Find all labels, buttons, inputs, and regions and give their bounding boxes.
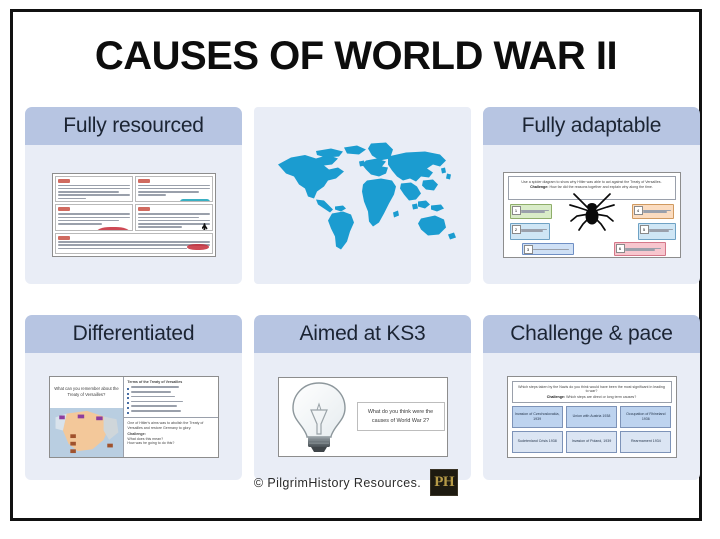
- challenge-label: Challenge:: [547, 395, 565, 399]
- panel-body-world-map: [254, 107, 471, 284]
- spider-box-2: 2: [510, 223, 550, 240]
- spider-box-3: 3: [522, 243, 574, 255]
- spider-diagram-thumbnail: Use a spider diagram to show why Hitler …: [503, 172, 681, 258]
- panel-header-differentiated: Differentiated: [25, 315, 242, 353]
- panel-body-fully-resourced: [25, 145, 242, 284]
- spider-icon: [569, 190, 615, 232]
- ks3-question: What do you think were the causes of Wor…: [357, 402, 445, 431]
- spider-challenge-label: Challenge:: [530, 185, 548, 189]
- spider-instruction: Use a spider diagram to show why Hitler …: [514, 180, 670, 185]
- challenge-cell: Union with Austria 1938: [566, 406, 617, 428]
- challenge-cell: Rearmament 1934: [620, 431, 671, 453]
- worksheet-block: [55, 204, 133, 231]
- poster-frame: CAUSES OF WORLD WAR II Fully resourced: [10, 9, 702, 521]
- world-map-icon: [268, 137, 458, 255]
- lightbulb-thumbnail: What do you think were the causes of Wor…: [278, 377, 448, 457]
- panel-fully-resourced[interactable]: Fully resourced: [25, 107, 242, 284]
- worksheet-footer-block: [55, 233, 213, 253]
- spider-box-number: 4: [634, 206, 643, 215]
- germany-map-icon: [50, 408, 124, 457]
- panel-header-fully-adaptable: Fully adaptable: [483, 107, 700, 145]
- challenge-instruction: Which steps taken by the Nazis do you th…: [517, 385, 667, 395]
- panel-body-aimed-at-ks3: What do you think were the causes of Wor…: [254, 353, 471, 480]
- spider-box-number: 6: [616, 244, 625, 253]
- treaty-terms-title: Terms of the Treaty of Versailles: [127, 380, 214, 385]
- worksheet-block: [135, 204, 213, 231]
- worksheet-block: [135, 176, 213, 203]
- challenge-grid-thumbnail: Which steps taken by the Nazis do you th…: [507, 376, 677, 458]
- panel-body-differentiated: What can you remember about the Treaty o…: [25, 353, 242, 480]
- panel-header-challenge-and-pace: Challenge & pace: [483, 315, 700, 353]
- panel-differentiated[interactable]: Differentiated What can you remember abo…: [25, 315, 242, 480]
- spider-box-number: 5: [640, 225, 649, 234]
- panel-aimed-at-ks3[interactable]: Aimed at KS3: [254, 315, 471, 480]
- panel-world-map[interactable]: [254, 107, 471, 284]
- spider-box-4: 4: [632, 204, 674, 219]
- spider-challenge-text: How far did the reasons together and exp…: [549, 185, 652, 189]
- footer: © PilgrimHistory Resources. PH: [13, 469, 699, 496]
- differentiated-thumbnail: What can you remember about the Treaty o…: [49, 376, 219, 458]
- differentiated-question: What can you remember about the Treaty o…: [50, 377, 124, 408]
- challenge-cell: Invasion of Poland, 1939: [566, 431, 617, 453]
- differentiated-task-block: One of Hitler's aims was to abolish the …: [124, 418, 217, 456]
- panel-body-challenge-and-pace: Which steps taken by the Nazis do you th…: [483, 353, 700, 480]
- treaty-terms-block: Terms of the Treaty of Versailles: [124, 377, 217, 419]
- challenge-instruction-box: Which steps taken by the Nazis do you th…: [512, 381, 672, 403]
- challenge-text: Which steps are direct or long term caus…: [566, 395, 636, 399]
- panel-fully-adaptable[interactable]: Fully adaptable Use a spider diagram to …: [483, 107, 700, 284]
- pilgrim-history-logo: PH: [430, 469, 458, 496]
- panel-header-fully-resourced: Fully resourced: [25, 107, 242, 145]
- spider-box-1: 1: [510, 204, 552, 219]
- lightbulb-icon: [287, 380, 351, 454]
- worksheet-thumbnail: [52, 173, 216, 257]
- spider-box-number: 3: [524, 245, 533, 254]
- panel-header-aimed-at-ks3: Aimed at KS3: [254, 315, 471, 353]
- panel-challenge-and-pace[interactable]: Challenge & pace Which steps taken by th…: [483, 315, 700, 480]
- worksheet-block: [55, 176, 133, 203]
- differentiated-challenge-line-2: How was he going to do this?: [127, 441, 214, 446]
- spider-box-5: 5: [638, 223, 676, 240]
- spider-box-number: 2: [512, 225, 521, 234]
- differentiated-task: One of Hitler's aims was to abolish the …: [127, 421, 214, 431]
- challenge-cell: Occupation of Rhineland 1936: [620, 406, 671, 428]
- spider-box-6: 6: [614, 242, 666, 256]
- challenge-cell: Invasion of Czechoslovakia, 1939: [512, 406, 563, 428]
- spider-box-number: 1: [512, 206, 521, 215]
- panel-body-fully-adaptable: Use a spider diagram to show why Hitler …: [483, 145, 700, 284]
- challenge-cell: Sudetenland Crisis 1938: [512, 431, 563, 453]
- copyright-text: © PilgrimHistory Resources.: [254, 476, 421, 490]
- page-title: CAUSES OF WORLD WAR II: [13, 36, 699, 76]
